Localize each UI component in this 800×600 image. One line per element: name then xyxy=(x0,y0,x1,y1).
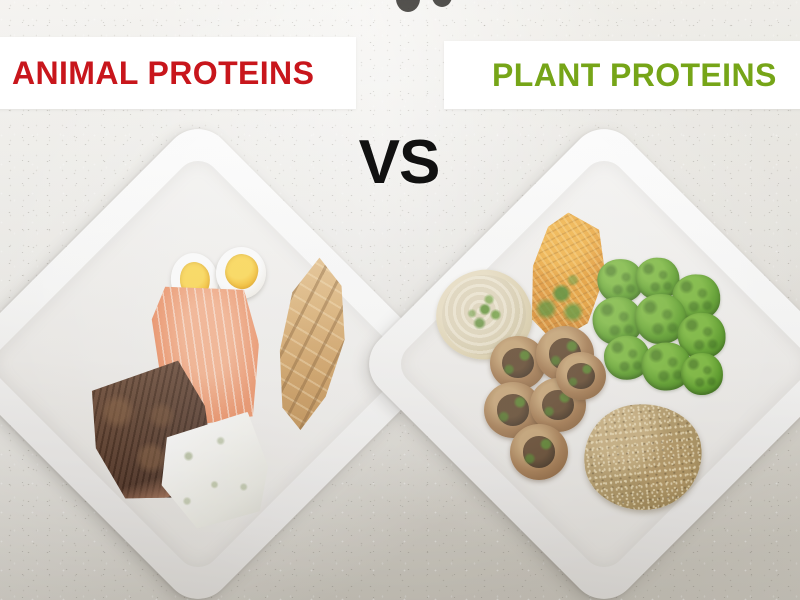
stuffed-mushroom xyxy=(556,352,606,400)
quinoa xyxy=(579,398,707,516)
grilled-chicken-breast xyxy=(255,252,363,438)
broccoli-floret xyxy=(680,352,725,397)
quinoa-grains xyxy=(579,398,707,516)
plant-proteins-label: PLANT PROTEINS xyxy=(492,59,777,91)
plant-proteins-label-box: PLANT PROTEINS xyxy=(444,41,800,109)
parsley-garnish xyxy=(510,424,568,480)
infographic-root: ANIMAL PROTEINS PLANT PROTEINS VS xyxy=(0,0,800,600)
parsley-garnish xyxy=(556,352,606,400)
broccoli-florets xyxy=(587,253,733,404)
stuffed-mushroom xyxy=(510,424,568,480)
egg-yolk xyxy=(223,252,259,290)
animal-proteins-label: ANIMAL PROTEINS xyxy=(12,57,314,89)
animal-proteins-label-box: ANIMAL PROTEINS xyxy=(0,37,356,109)
versus-label: VS xyxy=(334,132,464,194)
grill-marks xyxy=(255,252,363,438)
